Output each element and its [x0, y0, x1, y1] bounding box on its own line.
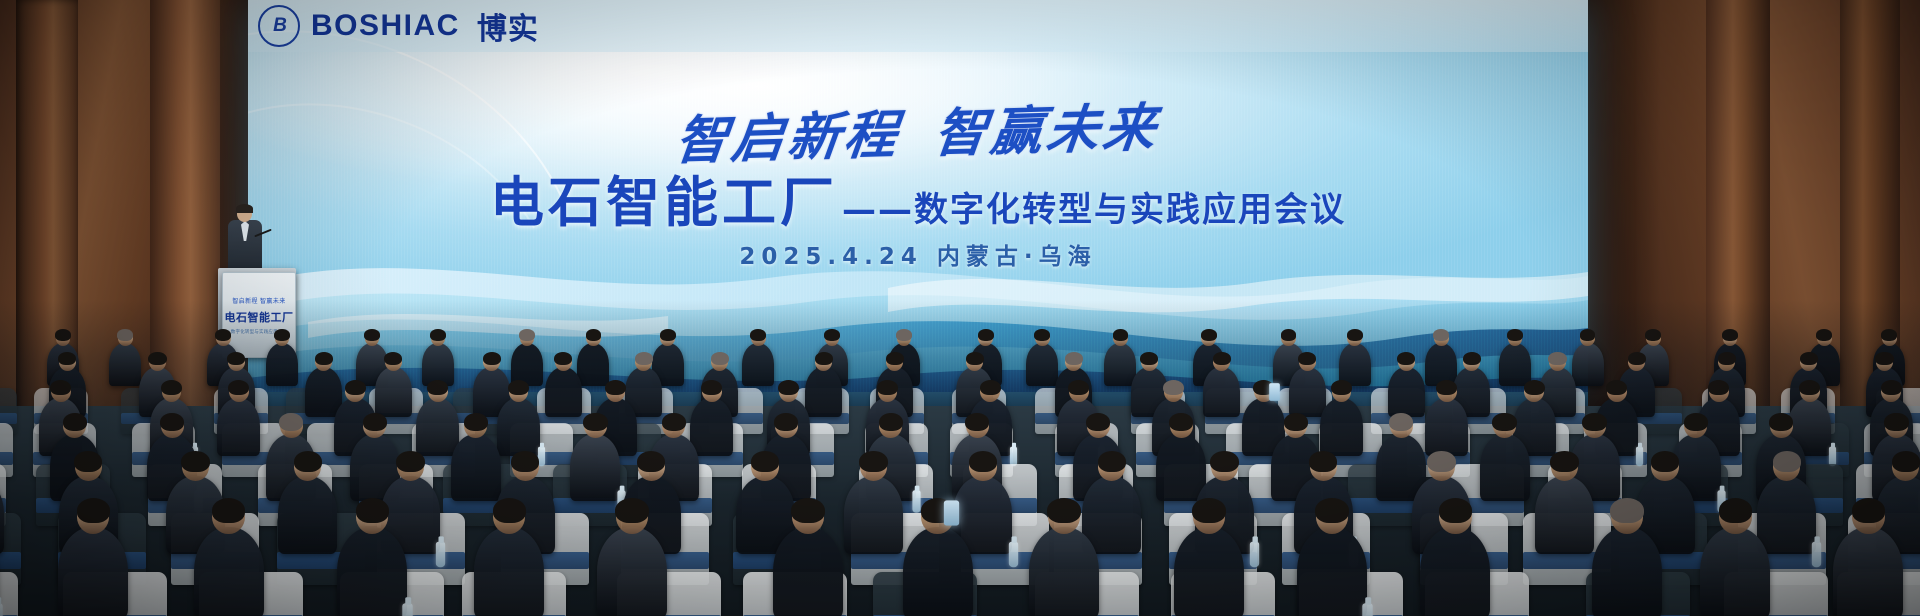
audience-member-hair	[227, 352, 245, 365]
audience-member-hair	[1201, 329, 1217, 340]
audience-member	[1297, 527, 1367, 616]
water-bottle	[1812, 542, 1821, 567]
audience-member-hair	[1436, 380, 1457, 395]
water-bottle	[0, 603, 3, 616]
audience-member-hair	[886, 352, 904, 365]
audience-member-hair	[356, 498, 389, 523]
audience-member-hair	[969, 451, 997, 472]
audience-member-hair	[1086, 413, 1110, 431]
audience-member-hair	[1507, 329, 1523, 340]
attendee-phone	[944, 500, 959, 525]
audience-member-hair	[1875, 352, 1893, 365]
audience-member-hair	[1315, 498, 1348, 523]
audience-member	[1572, 343, 1604, 387]
audience-member-hair	[1645, 329, 1661, 340]
audience-member-hair	[63, 413, 87, 431]
audience-member-hair	[1852, 498, 1885, 523]
audience-member-hair	[1582, 413, 1606, 431]
water-bottle	[1636, 447, 1643, 466]
audience-member-hair	[877, 380, 898, 395]
audience-member-hair	[701, 380, 722, 395]
audience-member-hair	[1892, 451, 1920, 472]
audience-member	[1388, 367, 1425, 417]
audience-member-hair	[1098, 451, 1126, 472]
boshiac-logo-icon: B	[258, 5, 300, 47]
audience-member-hair	[464, 413, 488, 431]
audience-member-hair	[1068, 380, 1089, 395]
audience-member-hair	[1773, 451, 1801, 472]
audience-member	[109, 343, 141, 387]
audience-member	[1535, 476, 1594, 554]
audience-member-hair	[1884, 413, 1908, 431]
event-title-sub: ——数字化转型与实践应用会议	[842, 182, 1346, 231]
audience-member-hair	[586, 329, 602, 340]
audience-member-hair	[511, 451, 539, 472]
brand-chinese-name: 博实	[477, 4, 539, 48]
audience-member-hair	[1606, 380, 1627, 395]
audience-member-hair	[212, 498, 245, 523]
audience-member-hair	[1684, 413, 1708, 431]
audience-member	[570, 434, 620, 501]
water-bottle	[402, 603, 413, 616]
audience-member	[844, 476, 903, 554]
audience-member-hair	[1034, 329, 1050, 340]
audience-member-hair	[605, 380, 626, 395]
audience-member-hair	[1610, 498, 1643, 523]
audience-member-hair	[396, 451, 424, 472]
audience-member-hair	[1284, 413, 1308, 431]
audience-member	[1425, 398, 1468, 456]
audience-member	[1156, 434, 1206, 501]
audience-member-hair	[1298, 352, 1316, 365]
audience-member-hair	[1140, 352, 1158, 365]
audience-member-hair	[1550, 451, 1578, 472]
audience-member-hair	[1389, 413, 1413, 431]
audience-member-hair	[1347, 329, 1363, 340]
audience-member-hair	[1113, 329, 1129, 340]
audience-member-hair	[1769, 413, 1793, 431]
audience-member-hair	[1881, 380, 1902, 395]
audience-member-hair	[1580, 329, 1596, 340]
audience-member-hair	[430, 329, 446, 340]
water-bottle	[913, 490, 921, 512]
speaker-hair	[236, 204, 253, 213]
audience-member-hair	[274, 329, 290, 340]
audience-member	[597, 527, 667, 616]
brand-latin-name: BOSHIAC	[311, 9, 460, 43]
audience-member-hair	[791, 498, 824, 523]
conference-hall-photo: B BOSHIAC 博实 智启新程智赢未来 电石智能工厂 ——数字化转型与实践应…	[0, 0, 1920, 616]
audience-member-hair	[662, 413, 686, 431]
audience-member-hair	[1881, 329, 1897, 340]
audience-member	[1203, 367, 1240, 417]
audience-member-hair	[1281, 329, 1297, 340]
audience-member-hair	[1397, 352, 1415, 365]
event-title-row: 电石智能工厂 ——数字化转型与实践应用会议	[248, 158, 1588, 237]
audience-member	[1289, 367, 1326, 417]
audience-member-hair	[427, 380, 448, 395]
audience-member-hair	[294, 451, 322, 472]
audience-member	[375, 367, 412, 417]
audience-member-hair	[363, 413, 387, 431]
audience-member-hair	[160, 413, 184, 431]
audience-member-hair	[980, 380, 1001, 395]
audience-member-hair	[1047, 498, 1080, 523]
audience-member	[1026, 343, 1058, 387]
audience-member-hair	[1065, 352, 1083, 365]
audience-member-hair	[483, 352, 501, 365]
audience-member-hair	[364, 329, 380, 340]
audience-member-hair	[279, 413, 303, 431]
audience-member	[1480, 434, 1530, 501]
audience-member	[474, 527, 544, 616]
audience-member-hair	[978, 329, 994, 340]
screen-logo-bar: B BOSHIAC 博实	[248, 0, 1588, 52]
audience-member-hair	[1799, 380, 1820, 395]
audience-member-hair	[345, 380, 366, 395]
audience-member	[497, 398, 540, 456]
audience-member	[1833, 527, 1903, 616]
audience-member-hair	[1433, 329, 1449, 340]
audience-member-hair	[583, 413, 607, 431]
audience-member	[217, 398, 260, 456]
audience-member-hair	[1628, 352, 1646, 365]
audience-member-hair	[1213, 352, 1231, 365]
audience-member-hair	[635, 352, 653, 365]
audience-member-hair	[1524, 380, 1545, 395]
audience-member-hair	[1719, 498, 1752, 523]
audience-member	[194, 527, 264, 616]
audience-member-hair	[384, 352, 402, 365]
audience-member	[1757, 476, 1816, 554]
audience-member-hair	[1548, 352, 1566, 365]
audience-area	[0, 300, 1920, 616]
audience-member	[266, 343, 298, 387]
chair-sash	[0, 552, 21, 569]
audience-member-hair	[117, 329, 133, 340]
audience-member-hair	[1309, 451, 1337, 472]
audience-member-hair	[637, 451, 665, 472]
audience-member	[742, 343, 774, 387]
audience-member-hair	[751, 451, 779, 472]
audience-member	[1592, 527, 1662, 616]
water-bottle	[436, 542, 445, 567]
audience-member-hair	[77, 498, 110, 523]
audience-member-hair	[1816, 329, 1832, 340]
audience-member	[1420, 527, 1490, 616]
audience-member-hair	[1192, 498, 1225, 523]
audience-member-hair	[148, 352, 166, 365]
audience-member-hair	[55, 329, 71, 340]
audience-member	[1320, 398, 1363, 456]
audience-member-hair	[824, 329, 840, 340]
audience-member	[58, 527, 128, 616]
audience-member-hair	[1331, 380, 1352, 395]
audience-member-hair	[660, 329, 676, 340]
audience-member-hair	[1169, 413, 1193, 431]
audience-member-hair	[74, 451, 102, 472]
audience-member-hair	[493, 498, 526, 523]
audience-member-hair	[1163, 380, 1184, 395]
audience-member-hair	[815, 352, 833, 365]
water-bottle	[1362, 603, 1373, 616]
audience-member	[1174, 527, 1244, 616]
event-title-main: 电石智能工厂	[490, 158, 838, 237]
audience-member	[773, 527, 843, 616]
attendee-phone	[1269, 384, 1280, 402]
audience-member-hair	[1463, 352, 1481, 365]
audience-member-hair	[181, 451, 209, 472]
audience-member-hair	[1800, 352, 1818, 365]
audience-member-hair	[1708, 380, 1729, 395]
audience-member-hair	[711, 352, 729, 365]
audience-member-hair	[615, 498, 648, 523]
audience-member-hair	[519, 329, 535, 340]
audience-member-hair	[778, 380, 799, 395]
audience-member-hair	[750, 329, 766, 340]
audience-member	[690, 398, 733, 456]
audience-member	[1499, 343, 1531, 387]
audience-member-hair	[1427, 451, 1455, 472]
audience-member-hair	[315, 352, 333, 365]
audience-member-hair	[508, 380, 529, 395]
water-bottle	[1008, 542, 1017, 567]
audience-member	[1700, 527, 1770, 616]
audience-member-hair	[1439, 498, 1472, 523]
chair-sash	[0, 452, 13, 465]
audience-member	[903, 527, 973, 616]
audience-member	[416, 398, 459, 456]
audience-member-hair	[879, 413, 903, 431]
water-bottle	[1250, 542, 1259, 567]
audience-member	[577, 343, 609, 387]
audience-member-hair	[50, 380, 71, 395]
audience-member	[1029, 527, 1099, 616]
audience-member-hair	[896, 329, 912, 340]
audience-member	[451, 434, 501, 501]
audience-member	[805, 367, 842, 417]
audience-member-hair	[1492, 413, 1516, 431]
audience-member	[545, 367, 582, 417]
audience-member-hair	[859, 451, 887, 472]
event-date-location: 2025.4.24 内蒙古·乌海	[248, 237, 1588, 271]
audience-member-hair	[774, 413, 798, 431]
speaker-figure	[228, 206, 262, 272]
audience-member-hair	[1722, 329, 1738, 340]
audience-member-hair	[1210, 451, 1238, 472]
audience-member	[278, 476, 337, 554]
audience-member-hair	[228, 380, 249, 395]
audience-member-hair	[58, 352, 76, 365]
audience-member	[337, 527, 407, 616]
audience-member-hair	[1718, 352, 1736, 365]
brand-logo: B BOSHIAC 博实	[258, 4, 539, 48]
audience-member-hair	[215, 329, 231, 340]
audience-member-hair	[966, 352, 984, 365]
audience-member-hair	[1651, 451, 1679, 472]
audience-member-hair	[161, 380, 182, 395]
audience-member-hair	[554, 352, 572, 365]
audience-member-hair	[965, 413, 989, 431]
slogan-right: 智赢未来	[931, 98, 1163, 164]
